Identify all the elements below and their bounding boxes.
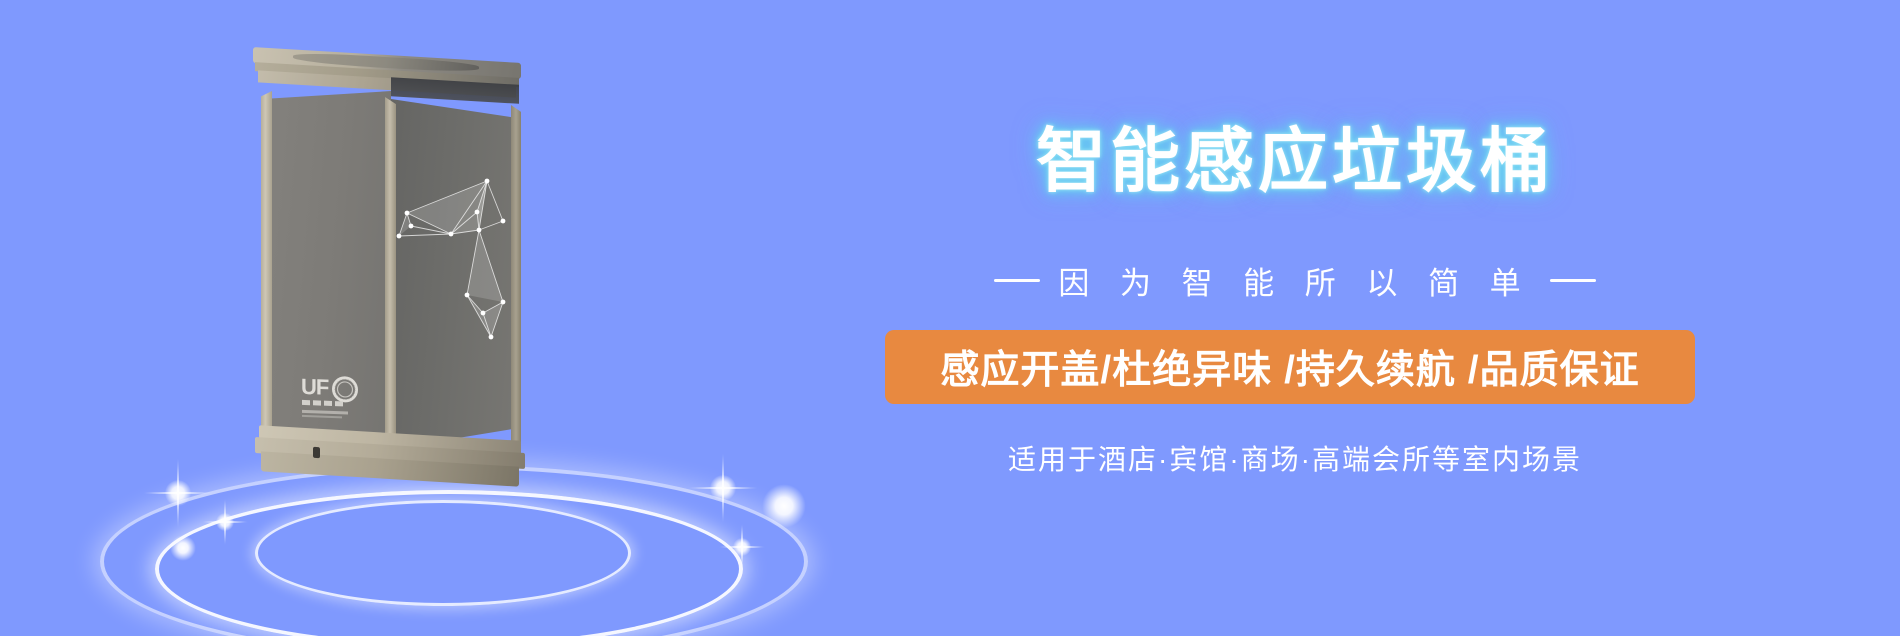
sparkle-right-small-icon bbox=[719, 524, 765, 570]
glow-dot-left-icon bbox=[170, 535, 196, 561]
usage-scenes-text: 适用于酒店·宾馆·商场·高端会所等室内场景 bbox=[880, 438, 1710, 478]
corner-post-left bbox=[261, 91, 272, 449]
tagline-row: 因 为 智 能 所 以 简 单 bbox=[880, 258, 1710, 303]
feature-list-text: 感应开盖/杜绝异味 /持久续航 /品质保证 bbox=[940, 339, 1639, 395]
tagline-rule-right bbox=[1550, 279, 1596, 282]
sparkle-left-small-icon bbox=[202, 499, 248, 545]
page-title: 智能感应垃圾桶 bbox=[880, 122, 1710, 200]
svg-text:UF: UF bbox=[301, 374, 329, 400]
promo-banner: UF 智能感应垃圾桶 因 为 智 能 所 以 简 单 bbox=[0, 0, 1900, 636]
marketing-copy-block: 智能感应垃圾桶 因 为 智 能 所 以 简 单 感应开盖/杜绝异味 /持久续航 … bbox=[880, 0, 1880, 636]
product-stage: UF bbox=[0, 0, 900, 636]
tagline-text: 因 为 智 能 所 以 简 单 bbox=[1058, 258, 1531, 303]
ripple-ring-inner bbox=[255, 500, 631, 606]
tagline-rule-left bbox=[994, 279, 1040, 282]
base-latch bbox=[313, 447, 320, 458]
ufo-brand-logo: UF bbox=[300, 372, 366, 424]
feature-highlight-bar: 感应开盖/杜绝异味 /持久续航 /品质保证 bbox=[885, 330, 1695, 404]
polygon-network-graphic bbox=[391, 99, 519, 449]
corner-post-middle bbox=[385, 97, 396, 451]
sparkle-right-large-icon bbox=[688, 453, 758, 523]
corner-post-right bbox=[511, 105, 521, 449]
trash-can-product-image: UF bbox=[245, 55, 535, 470]
glow-dot-right-icon bbox=[762, 484, 806, 528]
